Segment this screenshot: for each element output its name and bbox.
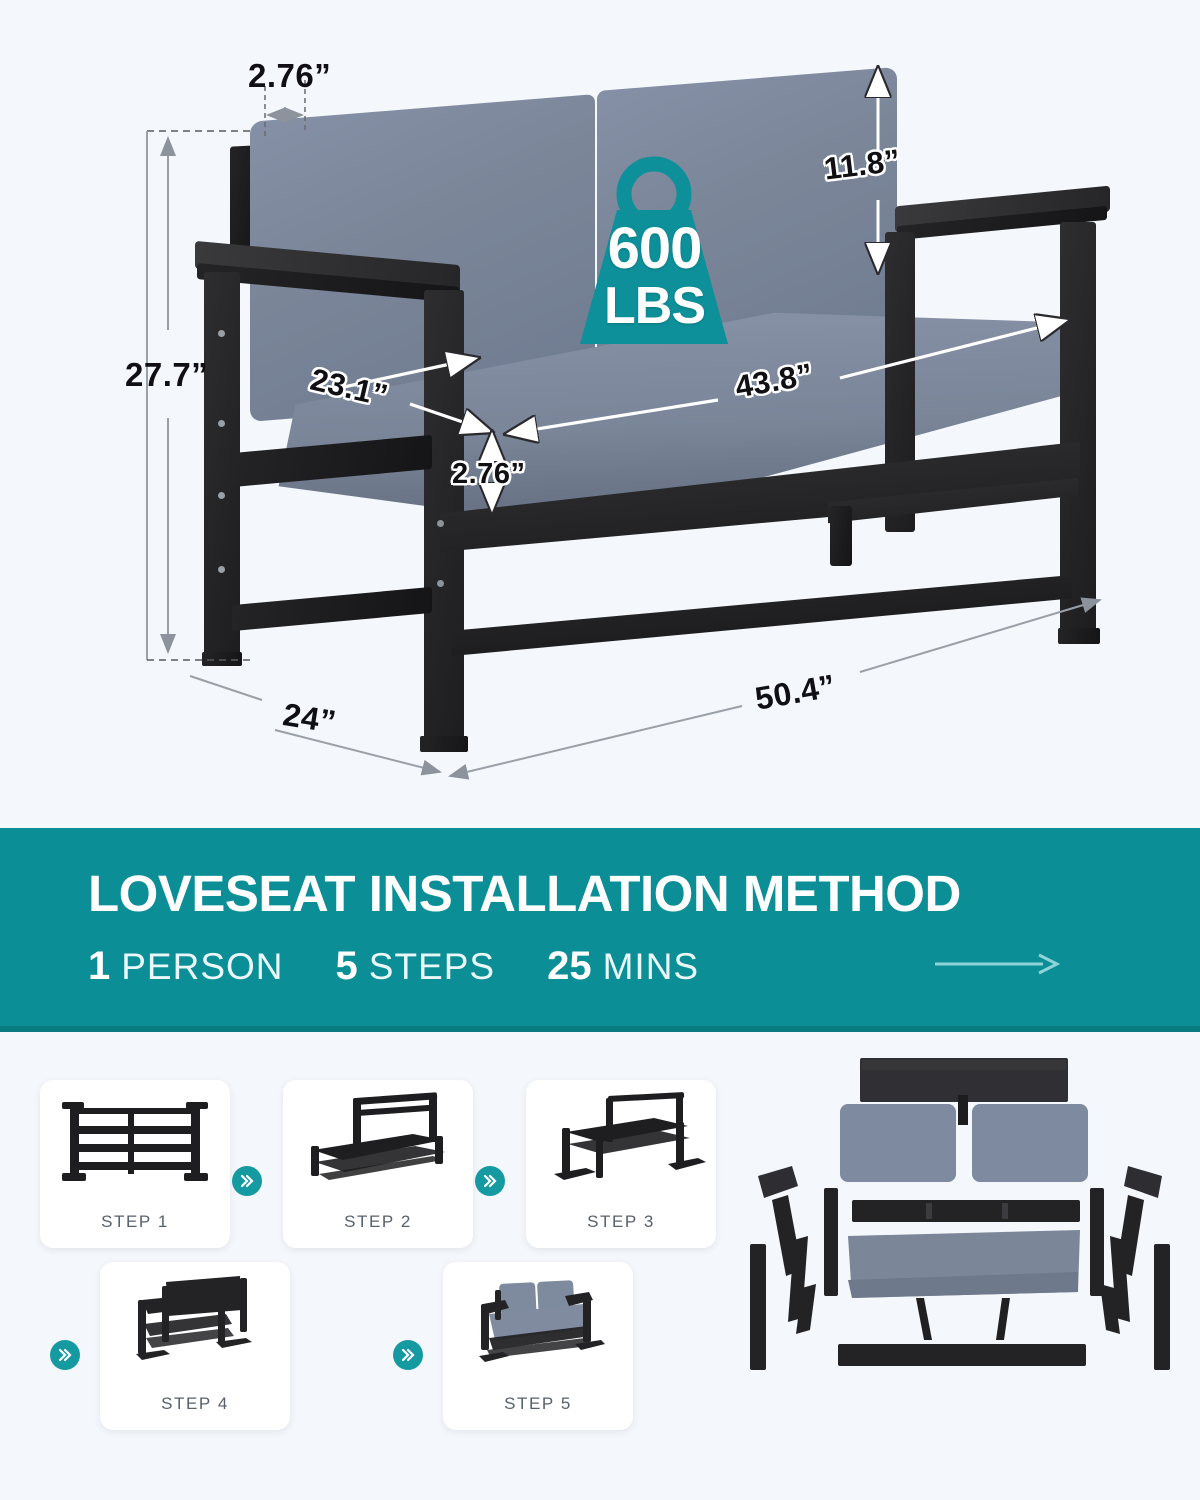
arrow-right-icon <box>935 951 1060 977</box>
dimension-label-arm-thickness-top: 2.76” <box>248 57 331 95</box>
part-armrest-right <box>1124 1166 1162 1198</box>
step-connector-4 <box>393 1340 423 1370</box>
part-front-rail <box>852 1200 1080 1222</box>
step-2-label: STEP 2 <box>283 1212 473 1232</box>
step-3-label: STEP 3 <box>526 1212 716 1232</box>
weight-badge-unit: LBS <box>562 280 747 332</box>
part-leg-left-outer <box>750 1244 766 1370</box>
stat-mins: 25 MINS <box>547 944 699 989</box>
step-connector-1 <box>232 1166 262 1196</box>
stat-person-number: 1 <box>88 944 110 989</box>
stat-person: 1 PERSON <box>88 944 284 989</box>
part-bottom-rail <box>838 1344 1086 1366</box>
stat-steps-word: STEPS <box>369 946 495 988</box>
step-connector-2 <box>475 1166 505 1196</box>
double-chevron-right-icon <box>400 1347 416 1363</box>
step-connector-3 <box>50 1340 80 1370</box>
banner-stats: 1 PERSON 5 STEPS 25 MINS <box>88 944 751 989</box>
installation-banner: LOVESEAT INSTALLATION METHOD 1 PERSON 5 … <box>0 828 1200 1032</box>
double-chevron-right-icon <box>57 1347 73 1363</box>
double-chevron-right-icon <box>482 1173 498 1189</box>
part-back-cushion-left <box>840 1104 956 1182</box>
part-inner-post-left <box>824 1188 838 1296</box>
step-1-label: STEP 1 <box>40 1212 230 1232</box>
step-3-illustration <box>526 1088 716 1200</box>
stat-steps-number: 5 <box>336 944 358 989</box>
step-5-label: STEP 5 <box>443 1394 633 1414</box>
step-card-1[interactable]: STEP 1 <box>40 1080 230 1248</box>
double-chevron-right-icon <box>239 1173 255 1189</box>
part-under-leg-right <box>996 1298 1010 1340</box>
part-back-cushion-right <box>972 1104 1088 1182</box>
step-card-4[interactable]: STEP 4 <box>100 1262 290 1430</box>
dimension-label-overall-height: 27.7” <box>125 356 208 394</box>
part-armrest-left <box>758 1166 798 1198</box>
stat-person-word: PERSON <box>121 946 283 988</box>
dimension-lines <box>0 0 1200 828</box>
stat-steps: 5 STEPS <box>336 944 496 989</box>
part-under-leg-left <box>916 1298 932 1340</box>
stat-mins-word: MINS <box>603 946 700 988</box>
exploded-parts-diagram <box>740 1040 1190 1440</box>
step-2-illustration <box>283 1088 473 1200</box>
step-card-3[interactable]: STEP 3 <box>526 1080 716 1248</box>
dimension-label-seat-cushion-thickness: 2.76” <box>452 458 525 491</box>
step-5-illustration <box>443 1270 633 1382</box>
step-card-2[interactable]: STEP 2 <box>283 1080 473 1248</box>
part-inner-post-right <box>1090 1188 1104 1296</box>
weight-capacity-badge: 600 LBS <box>562 148 747 348</box>
hero-dimension-diagram: 2.76” 27.7” 11.8” 23.1” 43.8” 2.76” 24” … <box>0 0 1200 828</box>
step-4-illustration <box>100 1270 290 1382</box>
step-card-5[interactable]: STEP 5 <box>443 1262 633 1430</box>
step-1-illustration <box>40 1088 230 1200</box>
weight-badge-number: 600 <box>562 220 747 278</box>
banner-title: LOVESEAT INSTALLATION METHOD <box>88 864 961 923</box>
step-4-label: STEP 4 <box>100 1394 290 1414</box>
stat-mins-number: 25 <box>547 944 592 989</box>
part-backrest-spine <box>958 1095 968 1125</box>
loveseat-illustration: 2.76” 27.7” 11.8” 23.1” 43.8” 2.76” 24” … <box>0 0 1200 828</box>
part-leg-right-outer <box>1154 1244 1170 1370</box>
installation-steps-section: STEP 1 STEP 2 <box>0 1032 1200 1500</box>
